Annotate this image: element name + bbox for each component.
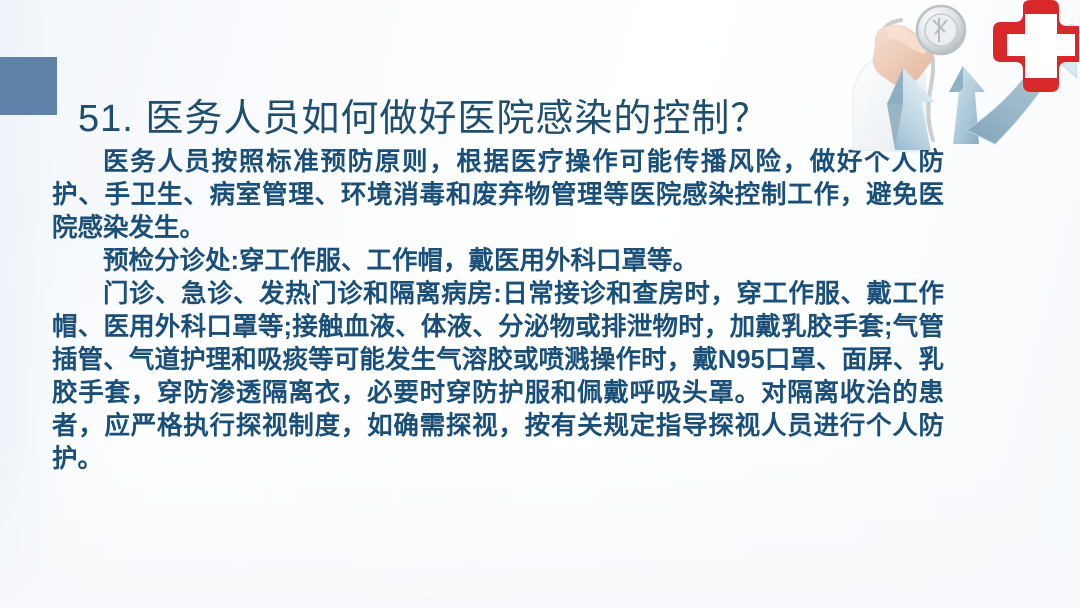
stethoscope-icon [881, 20, 933, 140]
arrow-up-right-icon [967, 24, 1077, 144]
body-copy: 医务人员按照标准预防原则，根据医疗操作可能传播风险，做好个人防护、手卫生、病室管… [52, 146, 944, 476]
slide-canvas: 51. 医务人员如何做好医院感染的控制？ 医务人员按照标准预防原则，根据医疗操作… [0, 0, 1080, 608]
doctor-hand-icon [873, 25, 934, 86]
body-paragraph-2: 预检分诊处:穿工作服、工作帽，戴医用外科口罩等。 [52, 245, 944, 278]
body-paragraph-1: 医务人员按照标准预防原则，根据医疗操作可能传播风险，做好个人防护、手卫生、病室管… [52, 146, 944, 245]
medical-graphic [845, 0, 1080, 158]
red-cross-icon [993, 0, 1079, 92]
arrow-down-left-icon [887, 68, 935, 150]
body-paragraph-3: 门诊、急诊、发热门诊和隔离病房:日常接诊和查房时，穿工作服、戴工作帽、医用外科口… [52, 278, 944, 476]
title-accent-block [0, 57, 57, 115]
page-title: 51. 医务人员如何做好医院感染的控制？ [78, 83, 878, 145]
stethoscope-chestpiece-icon [917, 6, 965, 54]
arrow-middle-icon [949, 66, 985, 144]
